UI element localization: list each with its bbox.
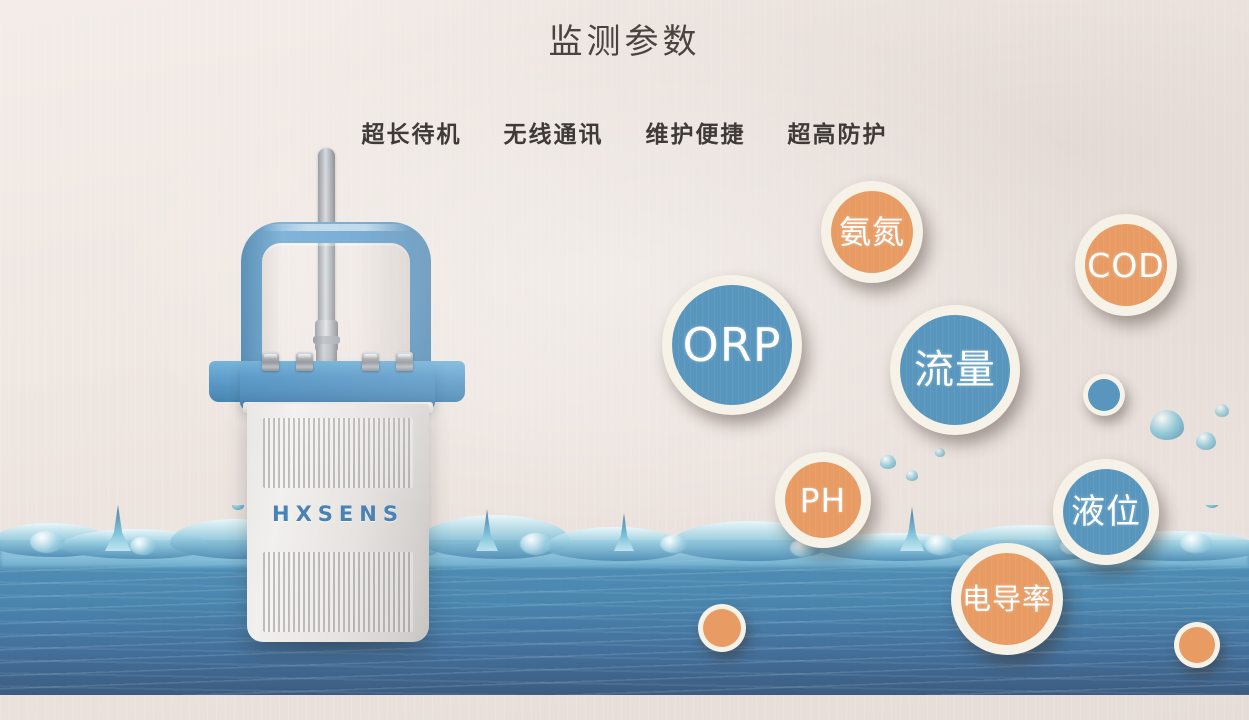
parameter-bubble-ammonia-nitrogen[interactable]: 氨氮: [821, 181, 923, 283]
carry-handle-highlight: [261, 224, 411, 231]
vent-grill-bottom: [263, 552, 413, 632]
water-droplet: [880, 455, 896, 469]
feature-list: 超长待机 无线通讯 维护便捷 超高防护: [0, 115, 1249, 149]
water-spike: [900, 507, 924, 551]
decorative-dot-orange: [1174, 622, 1220, 668]
water-droplet: [935, 448, 945, 457]
feature-item-2: 无线通讯: [504, 115, 604, 149]
bubble-label: COD: [1087, 249, 1164, 282]
water-spike: [105, 505, 131, 551]
water-droplet: [1215, 404, 1229, 417]
bubble-disc: 流量: [900, 315, 1010, 425]
bubble-label: 氨氮: [839, 216, 905, 248]
decorative-dot-blue: [1083, 374, 1125, 416]
bubble-label: 流量: [914, 350, 996, 390]
sensor-port: [262, 352, 279, 371]
water-foam: [1180, 533, 1212, 553]
poster-canvas: HXSENS 监测参数 超长待机 无线通讯 维护便捷 超高防护 ORP 氨氮 流…: [0, 0, 1249, 720]
parameter-bubble-flow[interactable]: 流量: [890, 305, 1020, 435]
water-droplet: [1196, 432, 1216, 450]
bubble-label: ORP: [683, 322, 782, 368]
water-foam: [925, 535, 955, 555]
vent-grill-top: [263, 418, 413, 488]
bubble-label: 液位: [1071, 495, 1141, 529]
bubble-disc: 氨氮: [831, 191, 913, 273]
water-foam: [660, 535, 688, 553]
sensor-port: [396, 352, 413, 371]
bubble-label: 电导率: [962, 585, 1052, 614]
sensor-port: [296, 352, 313, 371]
carry-handle: [241, 222, 431, 372]
bubble-disc: 液位: [1063, 469, 1149, 555]
bubble-disc: COD: [1085, 224, 1167, 306]
water-foam: [30, 531, 64, 553]
water-droplet: [906, 470, 918, 481]
bubble-disc: ORP: [672, 285, 792, 405]
water-foam: [130, 537, 156, 555]
sensor-port: [362, 352, 379, 371]
parameter-bubble-ph[interactable]: PH: [775, 452, 871, 548]
feature-item-1: 超长待机: [362, 115, 462, 149]
water-quality-monitor-device: HXSENS: [185, 140, 505, 640]
decorative-dot-orange: [698, 604, 746, 652]
device-brand-label: HXSENS: [247, 502, 429, 526]
parameter-bubble-orp[interactable]: ORP: [662, 275, 802, 415]
page-title: 监测参数: [0, 14, 1249, 63]
bubble-disc: PH: [785, 462, 861, 538]
bubble-label: PH: [800, 484, 847, 517]
water-foam: [520, 533, 552, 555]
parameter-bubble-conductivity[interactable]: 电导率: [951, 543, 1063, 655]
water-droplet: [1150, 410, 1184, 440]
bubble-disc: 电导率: [961, 553, 1053, 645]
parameter-bubble-cod[interactable]: COD: [1075, 214, 1177, 316]
feature-item-4: 超高防护: [788, 115, 888, 149]
water-droplet: [1205, 505, 1219, 508]
device-body: HXSENS: [247, 404, 429, 642]
feature-item-3: 维护便捷: [646, 115, 746, 149]
parameter-bubble-liquid-level[interactable]: 液位: [1053, 459, 1159, 565]
